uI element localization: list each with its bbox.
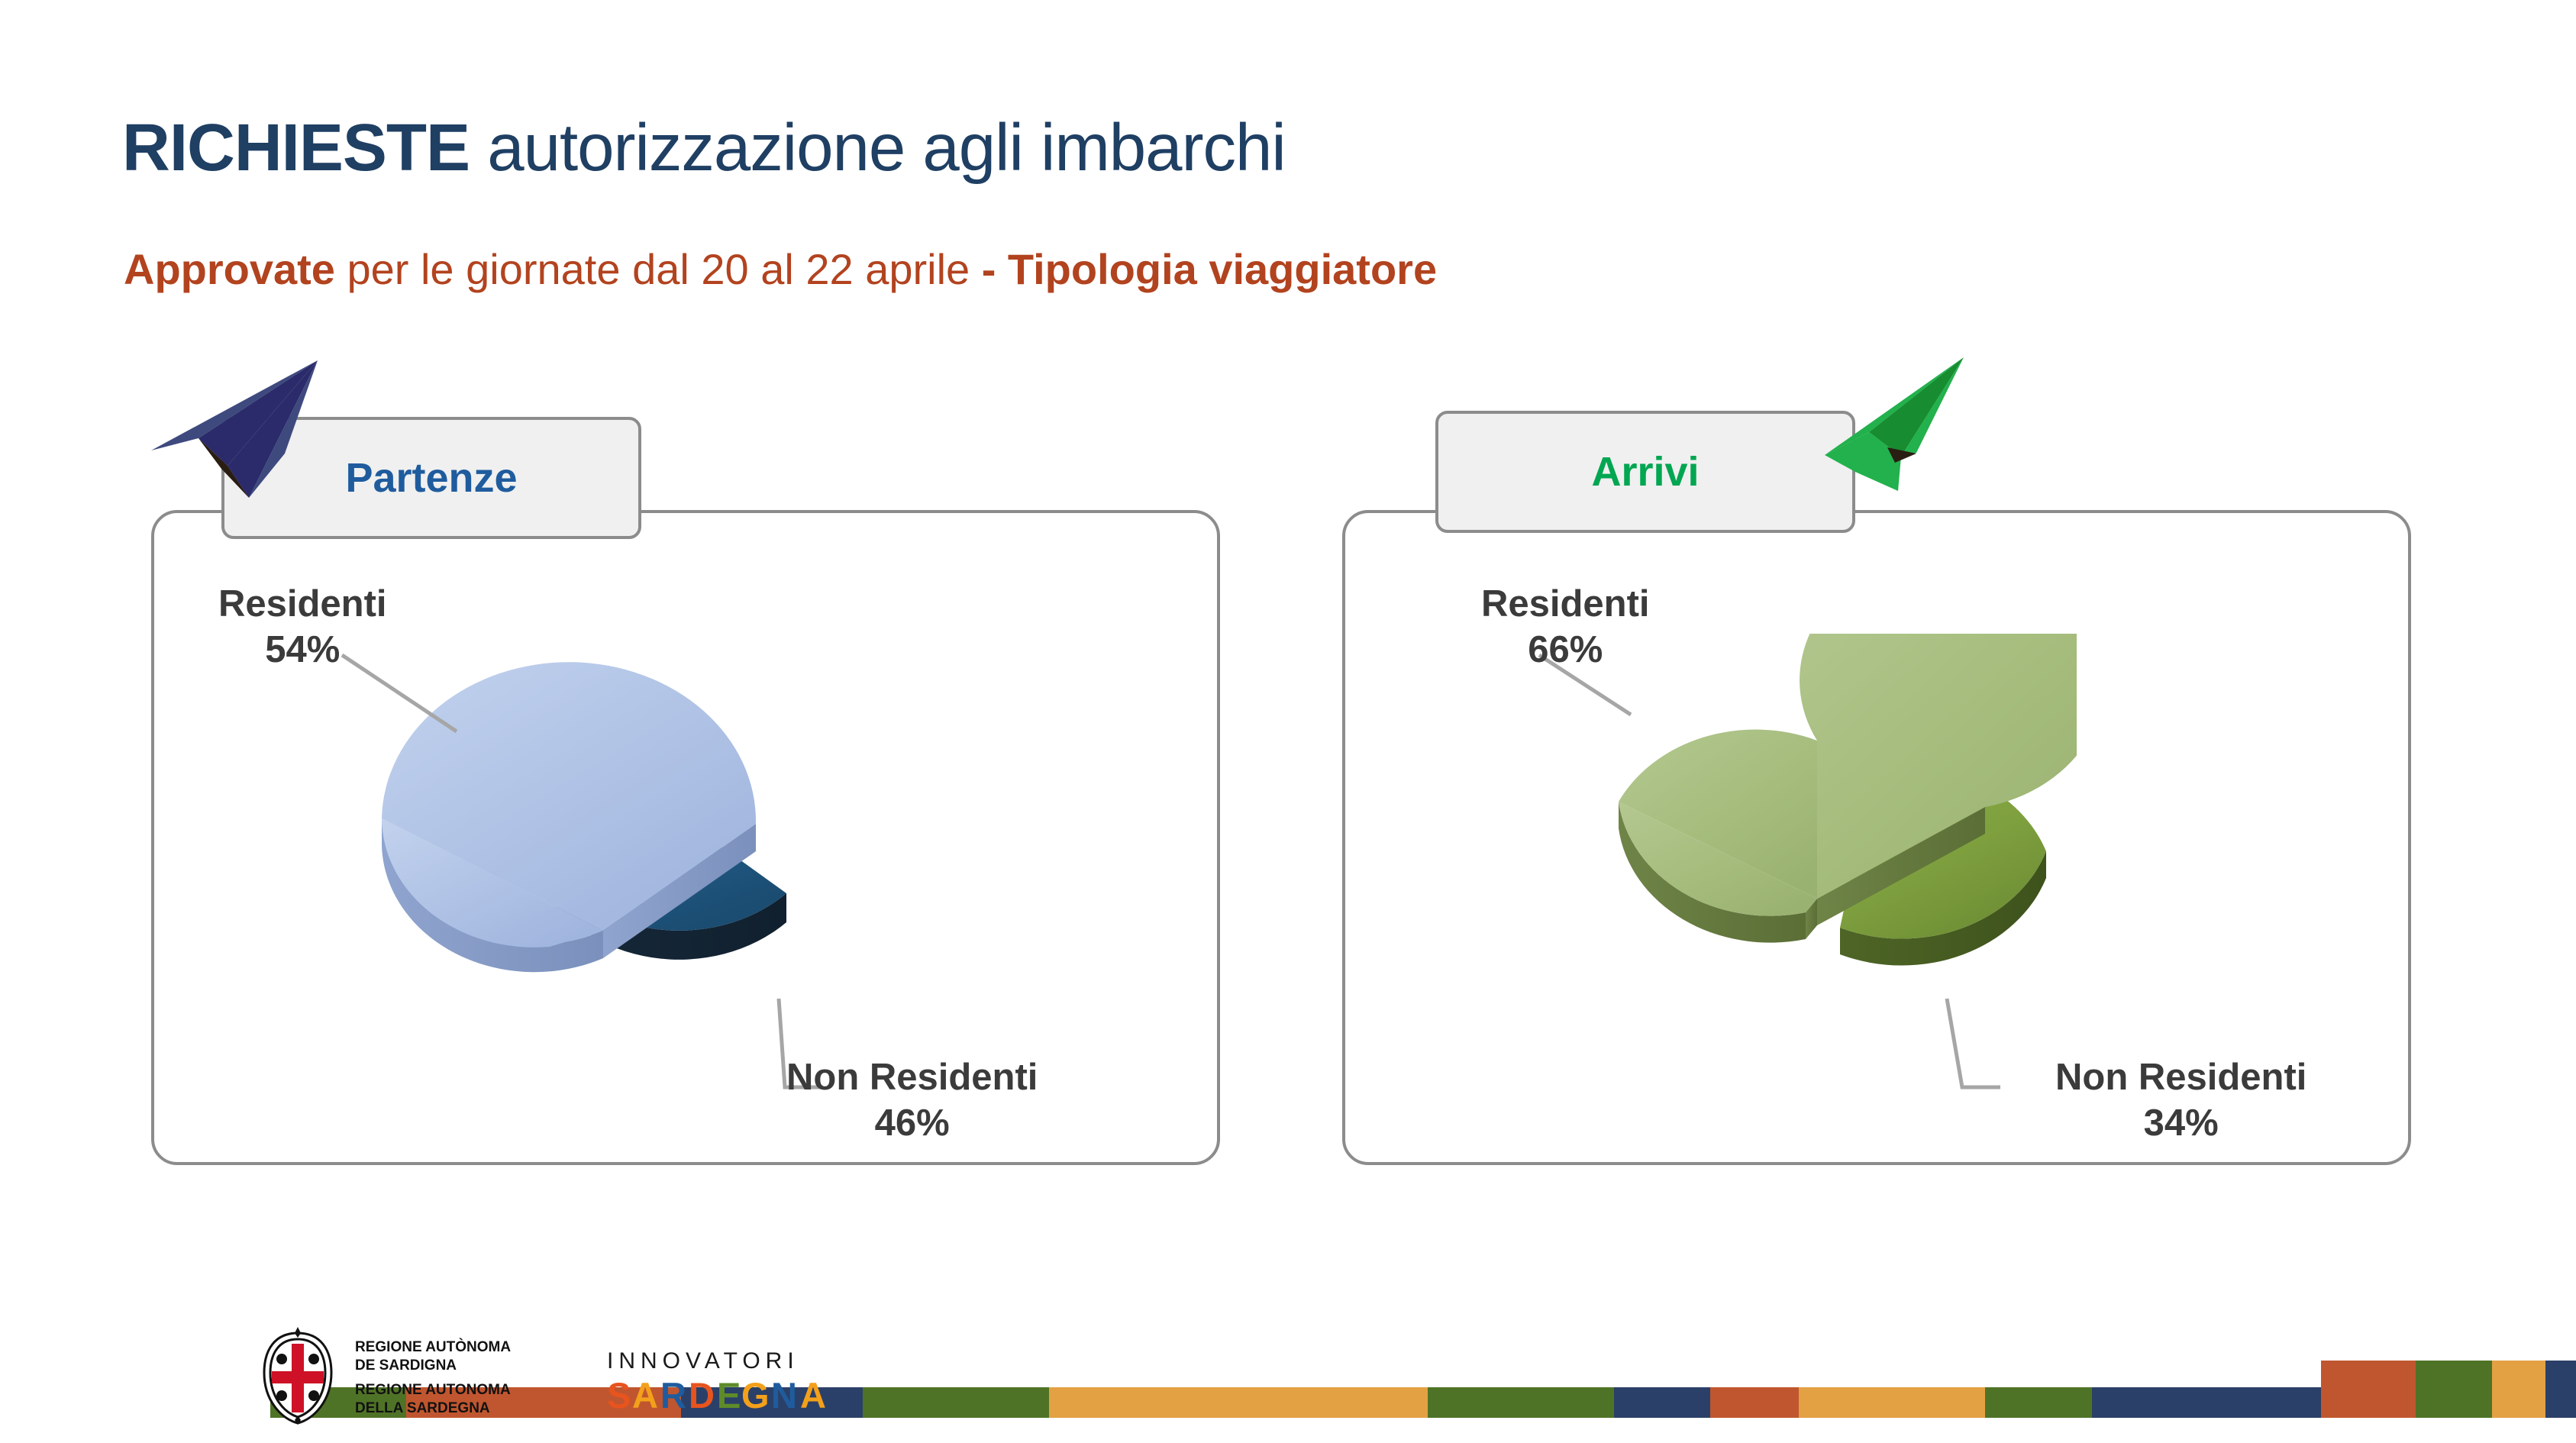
pie-label-partenze-nonresidenti: Non Residenti 46% bbox=[786, 1055, 1038, 1147]
label-name: Non Residenti bbox=[2055, 1057, 2306, 1098]
innovatori-wordmark: INNOVATORI bbox=[607, 1348, 799, 1374]
page-title-strong: RICHIESTE bbox=[122, 111, 470, 185]
sardinia-coat-of-arms-icon bbox=[264, 1327, 331, 1425]
page-title: RICHIESTE autorizzazione agli imbarchi bbox=[122, 115, 1286, 181]
label-name: Residenti bbox=[218, 583, 387, 625]
svg-text:A: A bbox=[632, 1375, 659, 1416]
svg-text:S: S bbox=[607, 1375, 631, 1416]
pie-chart-arrivi bbox=[1588, 634, 2077, 1092]
svg-text:G: G bbox=[741, 1375, 770, 1416]
tab-arrivi[interactable]: Arrivi bbox=[1435, 411, 1855, 533]
pie-label-partenze-residenti: Residenti 54% bbox=[218, 582, 387, 673]
region-line1: REGIONE AUTÒNOMA bbox=[355, 1338, 511, 1355]
label-name: Residenti bbox=[1481, 583, 1650, 625]
label-percent: 54% bbox=[218, 628, 387, 673]
page-title-light: autorizzazione agli imbarchi bbox=[470, 111, 1286, 185]
region-line3: REGIONE AUTONOMA bbox=[355, 1382, 511, 1398]
sardegna-wordmark: S A R D E G N A bbox=[607, 1375, 827, 1416]
tab-arrivi-label: Arrivi bbox=[1591, 448, 1699, 496]
page-subtitle: Approvate per le giornate dal 20 al 22 a… bbox=[124, 248, 1437, 291]
paper-plane-icon-arrivi bbox=[1825, 350, 2031, 502]
region-line4: DELLA SARDEGNA bbox=[355, 1400, 490, 1416]
page-subtitle-light: per le giornate dal 20 al 22 aprile bbox=[335, 245, 982, 293]
logo-innovatori-sardegna: INNOVATORI S A R D E G N A bbox=[607, 1342, 882, 1426]
svg-text:N: N bbox=[771, 1375, 798, 1416]
svg-text:A: A bbox=[800, 1375, 827, 1416]
region-line2: DE SARDIGNA bbox=[355, 1357, 457, 1374]
page-subtitle-strong2: - Tipologia viaggiatore bbox=[982, 245, 1437, 293]
svg-text:E: E bbox=[717, 1375, 741, 1416]
label-percent: 66% bbox=[1481, 628, 1650, 673]
logo-regione-sardegna: REGIONE AUTÒNOMA DE SARDIGNA REGIONE AUT… bbox=[260, 1327, 580, 1426]
paper-plane-icon-partenze bbox=[151, 353, 357, 505]
pie-label-arrivi-residenti: Residenti 66% bbox=[1481, 582, 1650, 673]
svg-text:D: D bbox=[689, 1375, 715, 1416]
tab-partenze-label: Partenze bbox=[345, 454, 517, 502]
pie-label-arrivi-nonresidenti: Non Residenti 34% bbox=[2055, 1055, 2306, 1147]
page-subtitle-strong: Approvate bbox=[124, 245, 335, 293]
label-percent: 46% bbox=[786, 1101, 1038, 1147]
pie-chart-partenze bbox=[359, 641, 847, 1084]
label-name: Non Residenti bbox=[786, 1057, 1038, 1098]
slide-root: RICHIESTE autorizzazione agli imbarchi A… bbox=[0, 0, 2576, 1443]
svg-text:R: R bbox=[660, 1375, 687, 1416]
label-percent: 34% bbox=[2055, 1101, 2306, 1147]
